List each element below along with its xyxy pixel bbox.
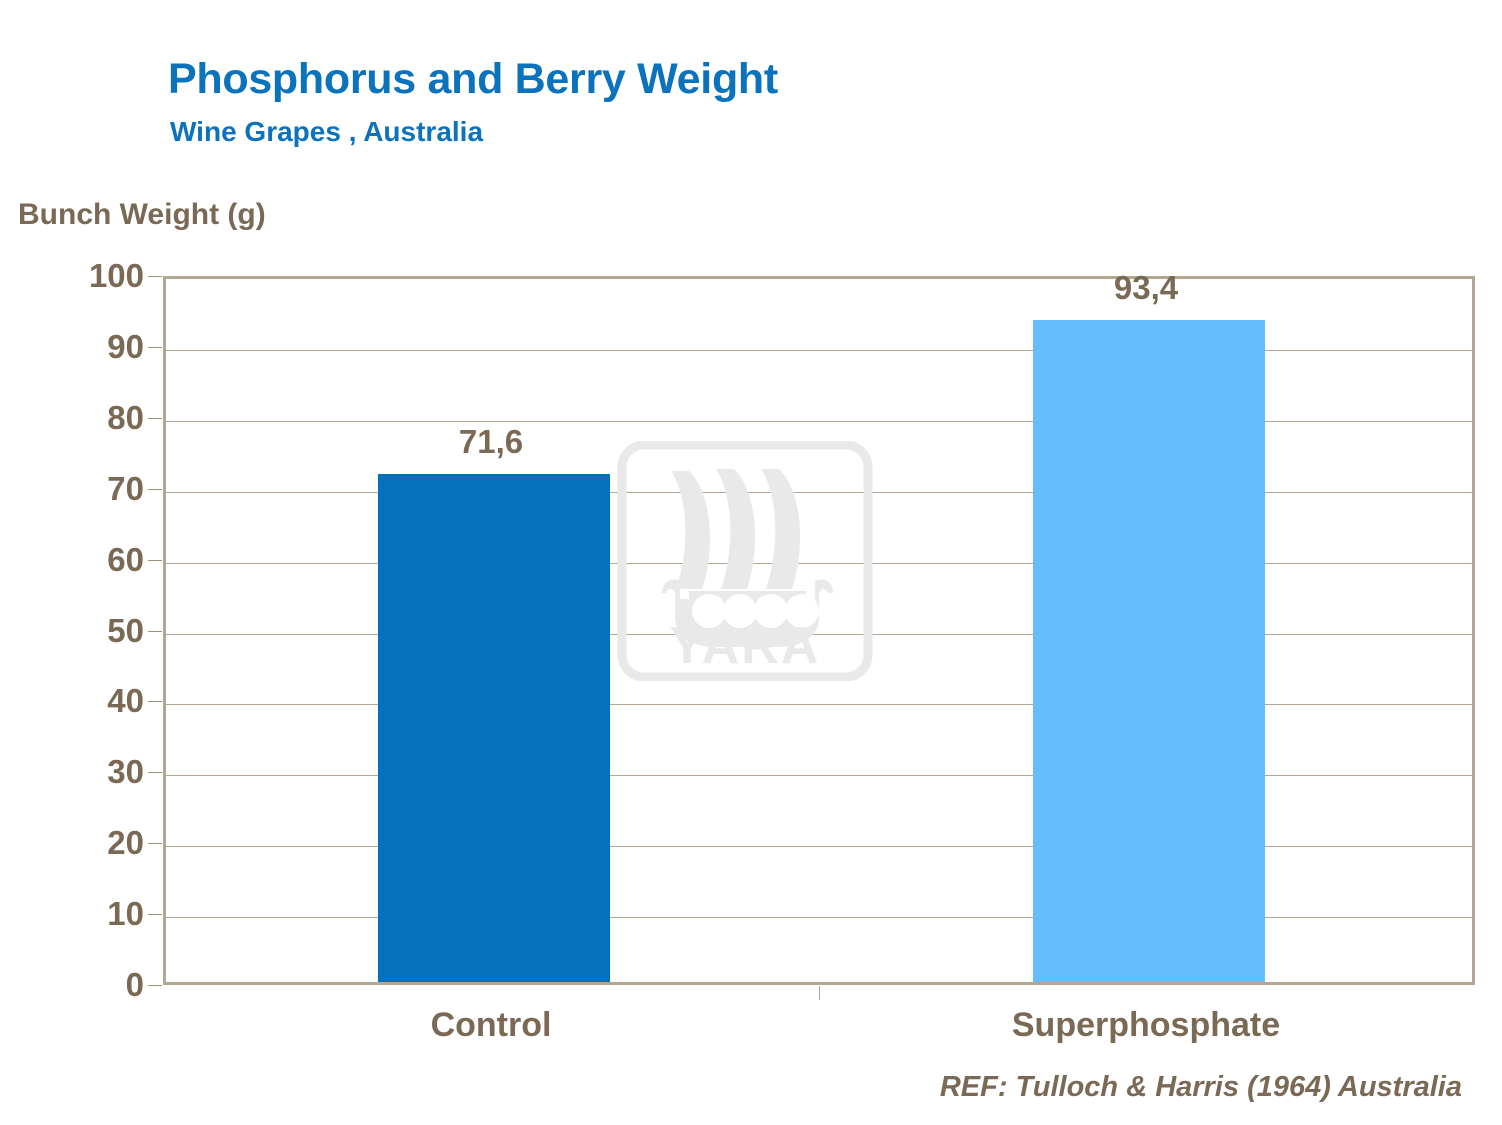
y-axis-tick: [148, 985, 162, 986]
bar-value-label: 71,6: [459, 423, 523, 461]
reference-note: REF: Tulloch & Harris (1964) Australia: [940, 1071, 1462, 1104]
gridline: [166, 350, 1472, 351]
y-axis-tick-labels: 1009080706050403020100: [40, 276, 144, 985]
bar-value-label: 93,4: [1114, 269, 1178, 307]
y-axis-tick: [148, 560, 162, 561]
bar[interactable]: [1033, 320, 1265, 982]
y-axis-tick: [148, 772, 162, 773]
y-axis-tick: [148, 631, 162, 632]
gridline: [166, 917, 1472, 918]
gridline: [166, 563, 1472, 564]
yara-watermark: YARA: [616, 441, 874, 681]
x-axis-category-label: Control: [431, 1006, 552, 1045]
gridline: [166, 492, 1472, 493]
y-axis-tick-label: 70: [107, 470, 144, 508]
bar[interactable]: [378, 474, 610, 982]
chart-title: Phosphorus and Berry Weight: [168, 55, 778, 104]
y-axis-tick: [148, 418, 162, 419]
y-axis-tick-label: 80: [107, 399, 144, 437]
svg-text:YARA: YARA: [670, 617, 821, 675]
y-axis-tick-label: 50: [107, 612, 144, 650]
y-axis-tick-label: 40: [107, 682, 144, 720]
x-axis-category-label: Superphosphate: [1012, 1006, 1280, 1045]
y-axis-tick-label: 100: [89, 257, 144, 295]
gridline: [166, 775, 1472, 776]
y-axis-tick: [148, 347, 162, 348]
y-axis-tick: [148, 701, 162, 702]
y-axis-tick-label: 20: [107, 824, 144, 862]
gridline: [166, 704, 1472, 705]
chart-subtitle: Wine Grapes , Australia: [170, 116, 483, 148]
y-axis-tick: [148, 843, 162, 844]
category-separator-tick: [819, 986, 820, 1000]
y-axis-tick-label: 10: [107, 895, 144, 933]
y-axis-tick-label: 90: [107, 328, 144, 366]
gridline: [166, 421, 1472, 422]
y-axis-tick: [148, 276, 162, 277]
gridline: [166, 846, 1472, 847]
y-axis-tick-label: 0: [126, 966, 144, 1004]
y-axis-tick: [148, 489, 162, 490]
viking-ship-logo-icon: YARA: [616, 441, 874, 681]
gridline: [166, 634, 1472, 635]
y-axis-title: Bunch Weight (g): [18, 198, 266, 232]
y-axis-tick-label: 60: [107, 541, 144, 579]
y-axis-tick: [148, 914, 162, 915]
plot-area: YARA: [163, 276, 1475, 985]
y-axis-tick-label: 30: [107, 753, 144, 791]
